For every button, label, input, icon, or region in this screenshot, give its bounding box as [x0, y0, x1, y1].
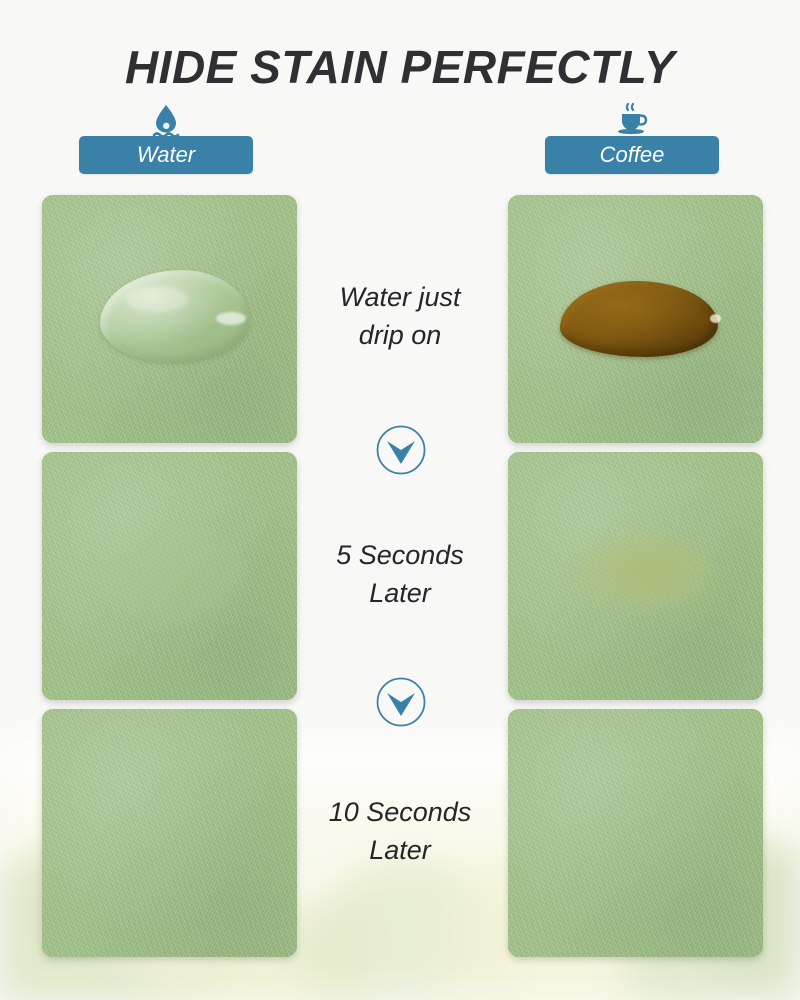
swatch-water-0s — [42, 195, 297, 443]
water-drop-icon — [146, 103, 186, 139]
swatch-water-10s — [42, 709, 297, 957]
column-header-water: Water — [79, 136, 253, 174]
swatch-coffee-10s — [508, 709, 763, 957]
step-label-3: 10 Seconds Later — [290, 793, 510, 870]
infographic-page: HIDE STAIN PERFECTLY Water Coffee — [0, 0, 800, 1000]
chevron-down-icon — [375, 676, 427, 728]
step-label-1: Water just drip on — [290, 278, 510, 355]
chevron-down-icon — [375, 424, 427, 476]
column-header-coffee-label: Coffee — [600, 142, 665, 168]
fabric-texture — [42, 709, 297, 957]
swatch-coffee-5s — [508, 452, 763, 700]
water-residue-mark — [90, 518, 250, 628]
step-label-2: 5 Seconds Later — [290, 536, 510, 613]
fabric-texture — [508, 709, 763, 957]
column-header-water-label: Water — [137, 142, 195, 168]
coffee-cup-icon — [612, 103, 652, 139]
swatch-coffee-0s — [508, 195, 763, 443]
page-title: HIDE STAIN PERFECTLY — [0, 40, 800, 94]
swatch-water-5s — [42, 452, 297, 700]
column-header-coffee: Coffee — [545, 136, 719, 174]
